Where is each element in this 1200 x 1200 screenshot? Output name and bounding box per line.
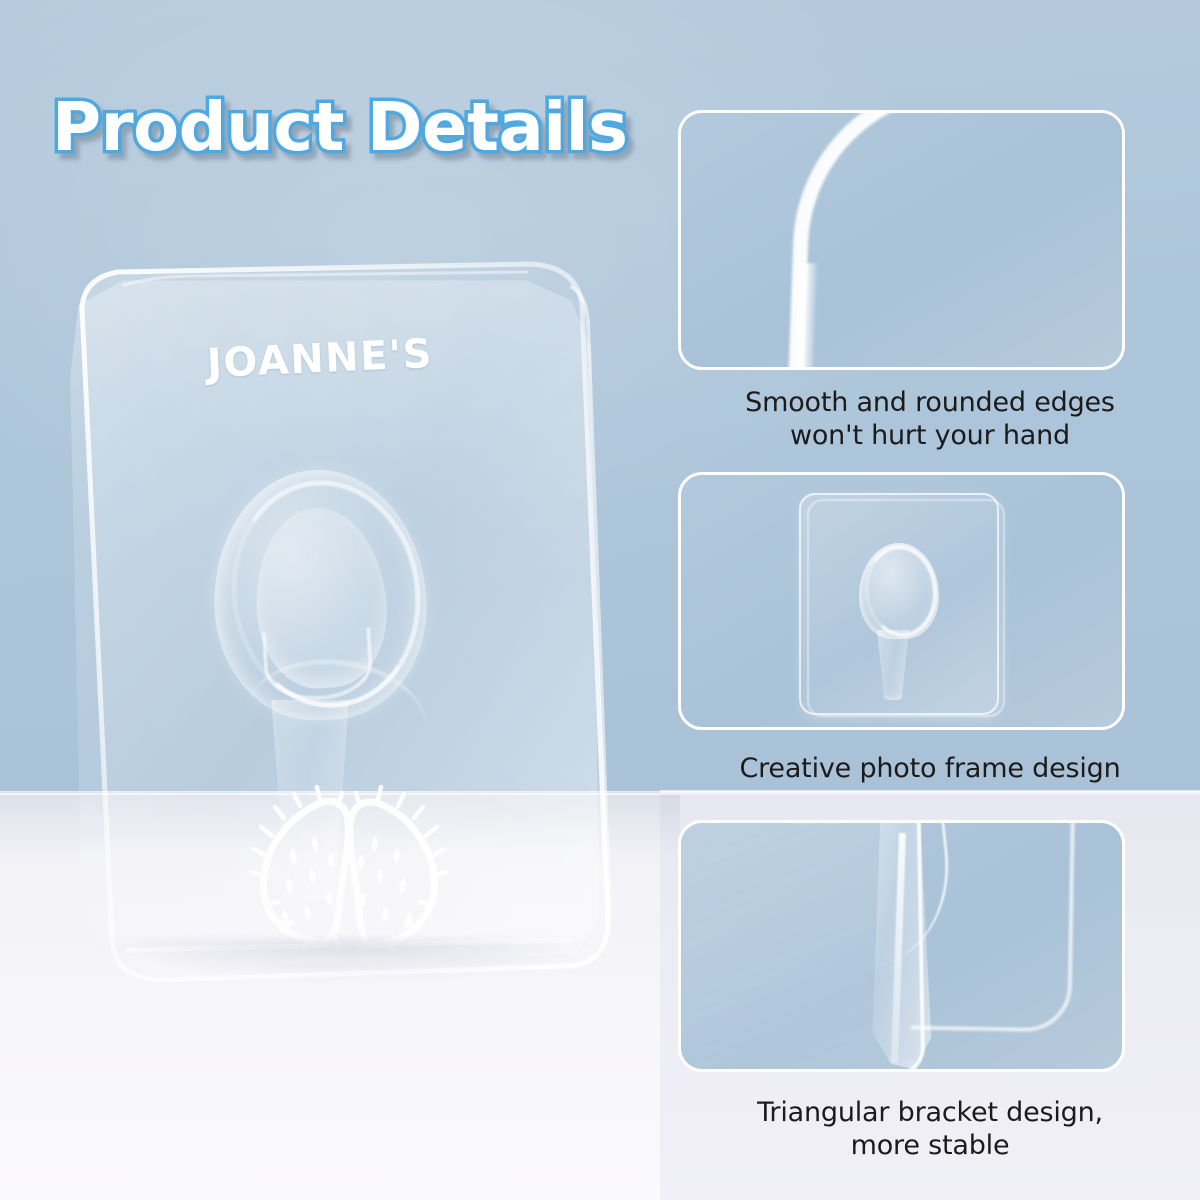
page-title-text: Product Details bbox=[52, 84, 652, 170]
acrylic-edge-band bbox=[791, 263, 817, 370]
acrylic-rounded-corner bbox=[787, 110, 1125, 370]
plaque-cast-shadow bbox=[95, 940, 605, 978]
page-title: Product Details bbox=[52, 84, 652, 170]
feature-card-photo-frame[interactable] bbox=[678, 472, 1125, 730]
caption-line: Creative photo frame design bbox=[660, 752, 1200, 785]
feature-card-triangular-bracket[interactable] bbox=[678, 820, 1125, 1072]
feature-card-column: Smooth and rounded edges won't hurt your… bbox=[660, 0, 1200, 1200]
caption-line: won't hurt your hand bbox=[660, 419, 1200, 452]
feature-photo-triangular-bracket bbox=[681, 823, 1122, 1069]
caption-line: Smooth and rounded edges bbox=[660, 386, 1200, 419]
product-details-infographic: Product Details bbox=[0, 0, 1200, 1200]
feature-photo-photo-frame bbox=[681, 475, 1122, 727]
feature-card-rounded-edges[interactable] bbox=[678, 110, 1125, 370]
feature-caption-photo-frame: Creative photo frame design bbox=[660, 752, 1200, 785]
cactus-etching-icon bbox=[248, 770, 448, 950]
caption-line: more stable bbox=[660, 1129, 1200, 1162]
feature-caption-triangular-bracket: Triangular bracket design, more stable bbox=[660, 1096, 1200, 1162]
feature-caption-rounded-edges: Smooth and rounded edges won't hurt your… bbox=[660, 386, 1200, 452]
caption-line: Triangular bracket design, bbox=[660, 1096, 1200, 1129]
feature-photo-rounded-edges bbox=[681, 113, 1122, 367]
